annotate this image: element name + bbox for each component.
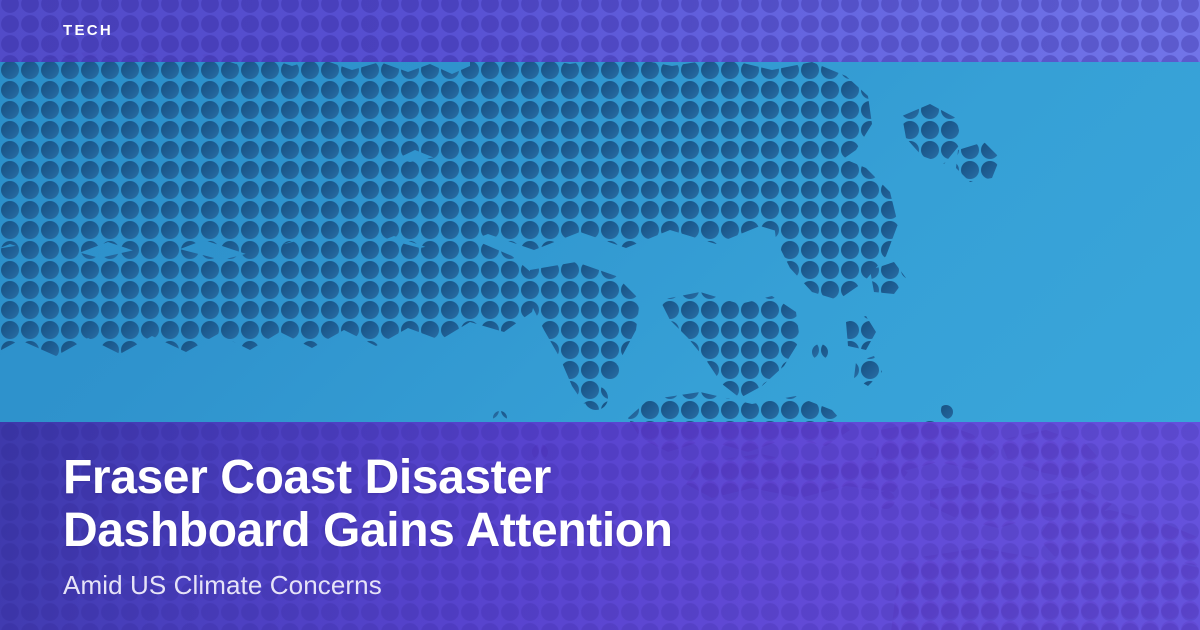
category-kicker-label: TECH — [63, 23, 113, 38]
headline-text-block: Fraser Coast Disaster Dashboard Gains At… — [63, 451, 1073, 601]
headline-line-1: Fraser Coast Disaster — [63, 451, 1073, 504]
page-title: Fraser Coast Disaster Dashboard Gains At… — [63, 451, 1073, 557]
headline-line-2: Dashboard Gains Attention — [63, 504, 1073, 557]
social-share-card: TECH Fraser Coast Disaster Dashboard Gai… — [0, 0, 1200, 630]
page-subtitle: Amid US Climate Concerns — [63, 569, 1073, 601]
category-band-dot-texture — [0, 0, 1200, 62]
